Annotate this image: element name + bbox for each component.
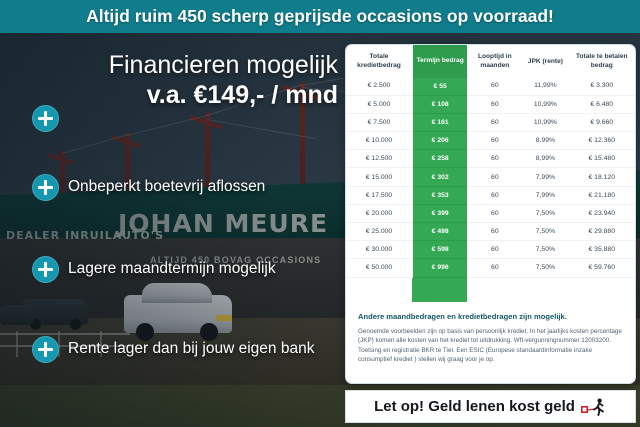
headline-line1: Financieren mogelijk	[28, 50, 338, 80]
table-cell: € 20.000	[346, 204, 412, 222]
table-cell: € 598	[412, 241, 467, 259]
table-row: € 50.000€ 996607,50%€ 59.760	[346, 259, 635, 277]
table-row: € 20.000€ 399607,50%€ 23.940	[346, 204, 635, 222]
table-cell: 8,99%	[522, 132, 568, 150]
table-cell: € 23.940	[569, 204, 635, 222]
plus-icon	[32, 336, 59, 363]
table-cell: 60	[467, 204, 522, 222]
table-row: € 7.500€ 1616010,99%€ 9.660	[346, 113, 635, 131]
table-cell: € 353	[412, 186, 467, 204]
table-header-cell: Totale kredietbedrag	[346, 45, 412, 77]
table-cell: 7,99%	[522, 168, 568, 186]
table-cell: € 5.000	[346, 95, 412, 113]
headline: Financieren mogelijk v.a. €149,- / mnd	[28, 50, 338, 110]
ball-and-chain-walking-man-icon	[581, 398, 607, 416]
table-cell: 7,50%	[522, 204, 568, 222]
table-cell: 10,99%	[522, 95, 568, 113]
table-cell-spacer	[522, 277, 568, 302]
table-cell: € 258	[412, 150, 467, 168]
table-cell: 60	[467, 223, 522, 241]
table-row: € 10.000€ 206608,99%€ 12.360	[346, 132, 635, 150]
promo-bullet-label: Onbeperkt boetevrij aflossen	[68, 178, 265, 196]
table-cell-spacer	[346, 277, 412, 302]
table-header-cell: JPK (rente)	[522, 45, 568, 77]
table-row: € 2.500€ 556011,99%€ 3.300	[346, 77, 635, 95]
table-cell: € 996	[412, 259, 467, 277]
table-row: € 30.000€ 598607,50%€ 35.880	[346, 241, 635, 259]
table-cell: 60	[467, 259, 522, 277]
promo-bullet-1: Onbeperkt boetevrij aflossen	[32, 173, 332, 201]
table-cell: € 2.500	[346, 77, 412, 95]
rates-table: Totale kredietbedragTermijn bedragLoopti…	[346, 45, 635, 302]
table-header-row: Totale kredietbedragTermijn bedragLoopti…	[346, 45, 635, 77]
table-cell: € 7.500	[346, 113, 412, 131]
table-cell: € 35.880	[569, 241, 635, 259]
table-cell: 60	[467, 132, 522, 150]
table-row: € 17.500€ 353607,99%€ 21.180	[346, 186, 635, 204]
table-header-cell: Totale te betalen bedrag	[569, 45, 635, 77]
table-row: € 12.500€ 258608,99%€ 15.480	[346, 150, 635, 168]
table-cell: € 12.360	[569, 132, 635, 150]
table-cell-spacer	[569, 277, 635, 302]
table-cell: 7,50%	[522, 223, 568, 241]
table-cell: 10,99%	[522, 113, 568, 131]
table-cell: € 30.000	[346, 241, 412, 259]
table-cell: € 18.120	[569, 168, 635, 186]
table-cell: 8,99%	[522, 150, 568, 168]
legal-note-title: Andere maandbedragen en kredietbedragen …	[358, 311, 623, 322]
credit-warning-text: Let op! Geld lenen kost geld	[374, 398, 575, 415]
table-cell: 60	[467, 186, 522, 204]
table-row: € 5.000€ 1086010,99%€ 6.480	[346, 95, 635, 113]
table-cell: 11,99%	[522, 77, 568, 95]
table-cell: € 50.000	[346, 259, 412, 277]
table-cell: € 206	[412, 132, 467, 150]
table-row: € 15.000€ 302607,99%€ 18.120	[346, 168, 635, 186]
table-header-cell: Termijn bedrag	[412, 45, 467, 77]
legal-note-body: Genoemde voorbeelden zijn op basis van p…	[358, 327, 623, 365]
table-row: € 25.000€ 498607,50%€ 29.880	[346, 223, 635, 241]
plus-icon	[32, 174, 59, 201]
headline-line2: v.a. €149,- / mnd	[28, 80, 338, 110]
table-cell: € 21.180	[569, 186, 635, 204]
advertisement-banner: JOHAN MEURE DEALER INRUILAUTO'S ALTIJD 4…	[0, 0, 640, 427]
top-banner: Altijd ruim 450 scherp geprijsde occasio…	[0, 0, 640, 33]
promo-bullet-3: Rente lager dan bij jouw eigen bank	[32, 335, 332, 363]
promo-bullet-2: Lagere maandtermijn mogelijk	[32, 255, 332, 283]
table-cell: € 9.660	[569, 113, 635, 131]
table-cell: € 3.300	[569, 77, 635, 95]
table-cell: € 55	[412, 77, 467, 95]
legal-note: Andere maandbedragen en kredietbedragen …	[346, 302, 635, 365]
banner-text: Altijd ruim 450 scherp geprijsde occasio…	[86, 6, 554, 27]
table-cell: € 108	[412, 95, 467, 113]
table-cell: 7,50%	[522, 241, 568, 259]
table-cell: € 15.480	[569, 150, 635, 168]
plus-icon	[32, 256, 59, 283]
table-cell: 60	[467, 150, 522, 168]
table-highlight-footer	[346, 277, 635, 302]
table-cell: € 302	[412, 168, 467, 186]
table-cell: 60	[467, 168, 522, 186]
promo-bullet-label: Lagere maandtermijn mogelijk	[68, 260, 276, 278]
table-cell: 60	[467, 77, 522, 95]
table-cell: 7,50%	[522, 259, 568, 277]
promo-column: Financieren mogelijk v.a. €149,- / mnd O…	[0, 33, 345, 427]
table-header-cell: Looptijd in maanden	[467, 45, 522, 77]
table-cell: 60	[467, 241, 522, 259]
table-cell: € 399	[412, 204, 467, 222]
table-cell: 60	[467, 113, 522, 131]
table-cell: € 6.480	[569, 95, 635, 113]
table-cell: € 17.500	[346, 186, 412, 204]
table-cell: € 498	[412, 223, 467, 241]
table-cell: 7,99%	[522, 186, 568, 204]
table-cell: € 12.500	[346, 150, 412, 168]
table-cell: 60	[467, 95, 522, 113]
promo-bullet-label: Rente lager dan bij jouw eigen bank	[68, 340, 314, 358]
table-cell: € 161	[412, 113, 467, 131]
rates-card: Totale kredietbedragTermijn bedragLoopti…	[345, 44, 636, 384]
credit-warning-bar: Let op! Geld lenen kost geld	[345, 390, 636, 423]
table-cell: € 59.760	[569, 259, 635, 277]
table-cell: € 15.000	[346, 168, 412, 186]
table-cell-spacer	[467, 277, 522, 302]
table-cell: € 10.000	[346, 132, 412, 150]
table-cell: € 29.880	[569, 223, 635, 241]
table-cell: € 25.000	[346, 223, 412, 241]
table-cell-spacer	[412, 277, 467, 302]
